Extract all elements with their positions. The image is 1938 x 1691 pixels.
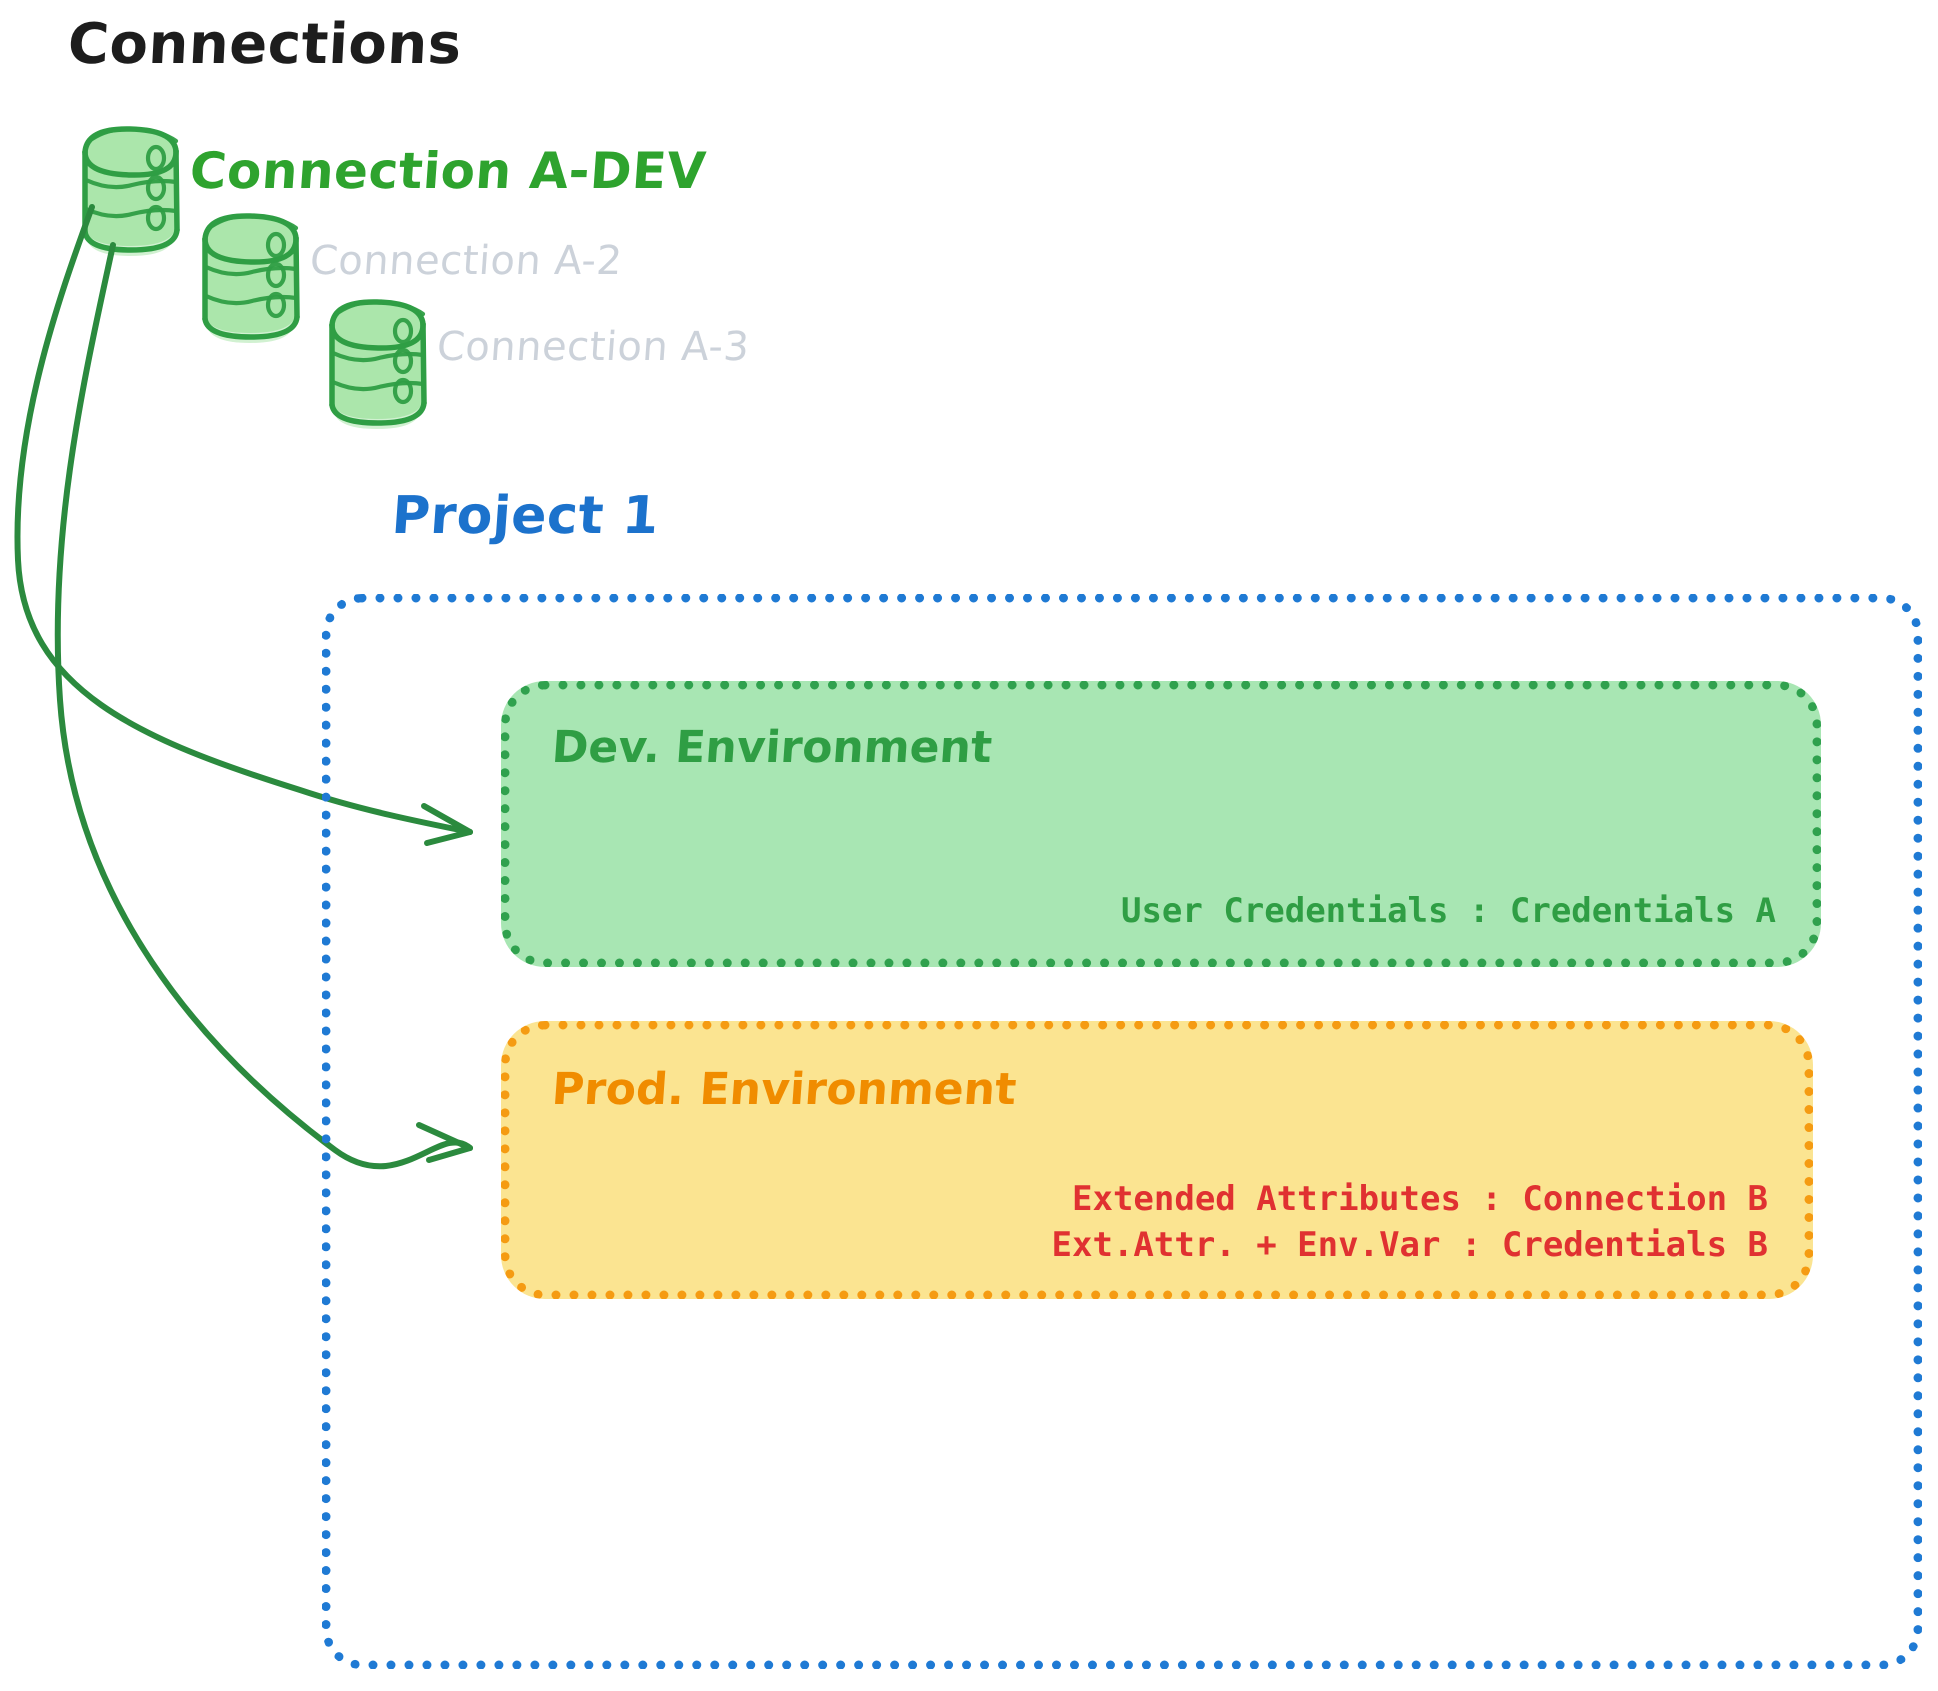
connection-label-a-dev[interactable]: Connection A-DEV — [188, 142, 708, 200]
prod-environment-box[interactable]: Prod. Environment Extended Attributes : … — [501, 1021, 1813, 1299]
dev-environment-title: Dev. Environment — [550, 722, 994, 773]
connection-label-a-2[interactable]: Connection A-2 — [308, 238, 624, 284]
project-title: Project 1 — [390, 486, 661, 546]
dev-environment-details: User Credentials : Credentials A — [1121, 888, 1776, 934]
prod-detail-line-2: Ext.Attr. + Env.Var : Credentials B — [1052, 1222, 1768, 1268]
prod-environment-title: Prod. Environment — [550, 1064, 1018, 1115]
dev-environment-box[interactable]: Dev. Environment User Credentials : Cred… — [501, 681, 1821, 967]
database-cylinder-icon-a-dev — [84, 128, 177, 256]
prod-detail-line-1: Extended Attributes : Connection B — [1052, 1176, 1768, 1222]
prod-environment-details: Extended Attributes : Connection B Ext.A… — [1052, 1176, 1768, 1268]
diagram-canvas: .cyl-body { fill:#abe6ab; stroke:none; }… — [0, 0, 1938, 1691]
project-container: Dev. Environment User Credentials : Cred… — [322, 594, 1922, 1669]
database-cylinder-icon-a-3 — [331, 301, 424, 429]
connection-label-a-3[interactable]: Connection A-3 — [435, 324, 751, 370]
database-cylinder-icon-a-2 — [204, 215, 297, 343]
dev-detail-line-1: User Credentials : Credentials A — [1121, 888, 1776, 934]
page-title: Connections — [66, 12, 463, 77]
